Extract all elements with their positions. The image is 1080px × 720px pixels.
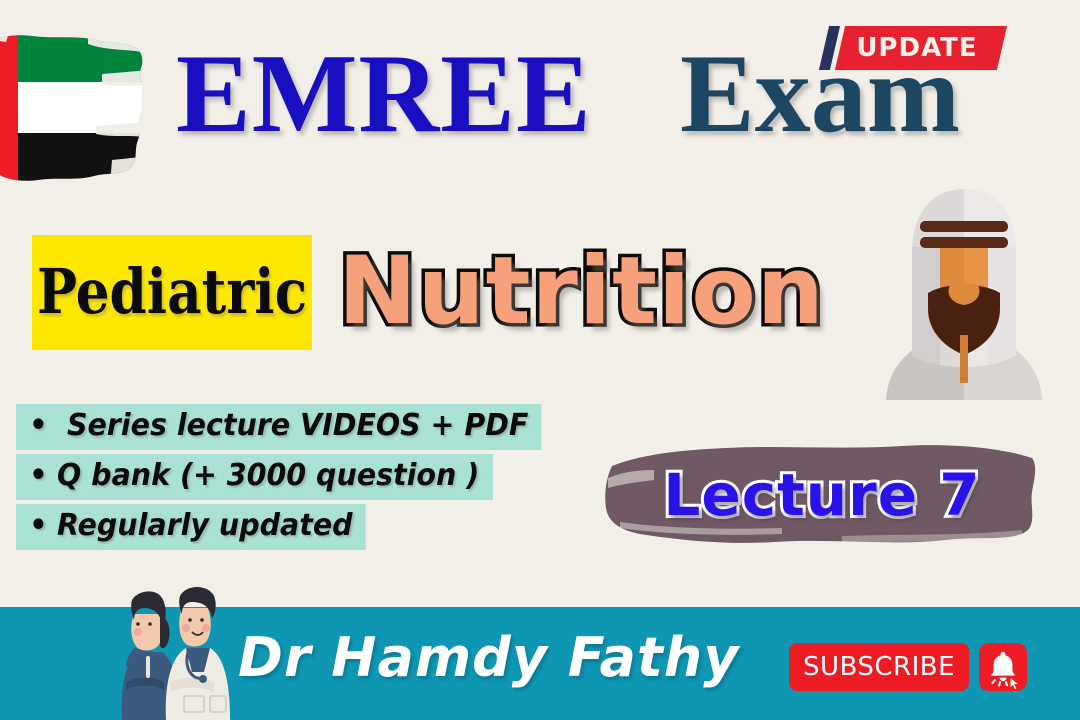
list-item-label: Regularly updated (57, 508, 353, 543)
subscribe-button[interactable]: SUBSCRIBE (789, 643, 969, 691)
update-badge-label: UPDATE (818, 26, 1002, 70)
list-item: •Regularly updated (16, 504, 556, 550)
bullet-dot-icon: • (29, 408, 47, 443)
list-item: • Series lecture VIDEOS + PDF (16, 404, 556, 450)
list-item-content: •Regularly updated (16, 504, 366, 550)
two-doctors-icon (104, 556, 240, 720)
uae-flag-brush-icon (0, 30, 150, 185)
notification-bell-button[interactable] (979, 643, 1027, 691)
list-item-content: •Q bank (+ 3000 question ) (16, 454, 493, 500)
bullet-dot-icon: • (29, 508, 47, 543)
nutrition-label: Nutrition (338, 240, 825, 344)
list-item-label: Q bank (+ 3000 question ) (57, 458, 479, 493)
poster-canvas: EMREE Exam UPDATE Pediatric Nutrition • … (0, 0, 1080, 720)
notification-bell-icon (979, 643, 1027, 691)
channel-name: Dr Hamdy Fathy (238, 628, 739, 688)
update-badge: UPDATE (818, 26, 1002, 70)
lecture-label: Lecture 7 (602, 432, 1042, 557)
list-item-label: Series lecture VIDEOS + PDF (57, 408, 528, 443)
list-item: •Q bank (+ 3000 question ) (16, 454, 556, 500)
pediatric-label: Pediatric (52, 246, 293, 338)
title-emree: EMREE (176, 38, 592, 150)
arab-man-keffiyeh-icon (864, 185, 1064, 400)
bullet-dot-icon: • (29, 458, 47, 493)
feature-list: • Series lecture VIDEOS + PDF •Q bank (+… (16, 404, 556, 554)
list-item-content: • Series lecture VIDEOS + PDF (16, 404, 542, 450)
hand-cursor-icon (1010, 677, 1019, 690)
